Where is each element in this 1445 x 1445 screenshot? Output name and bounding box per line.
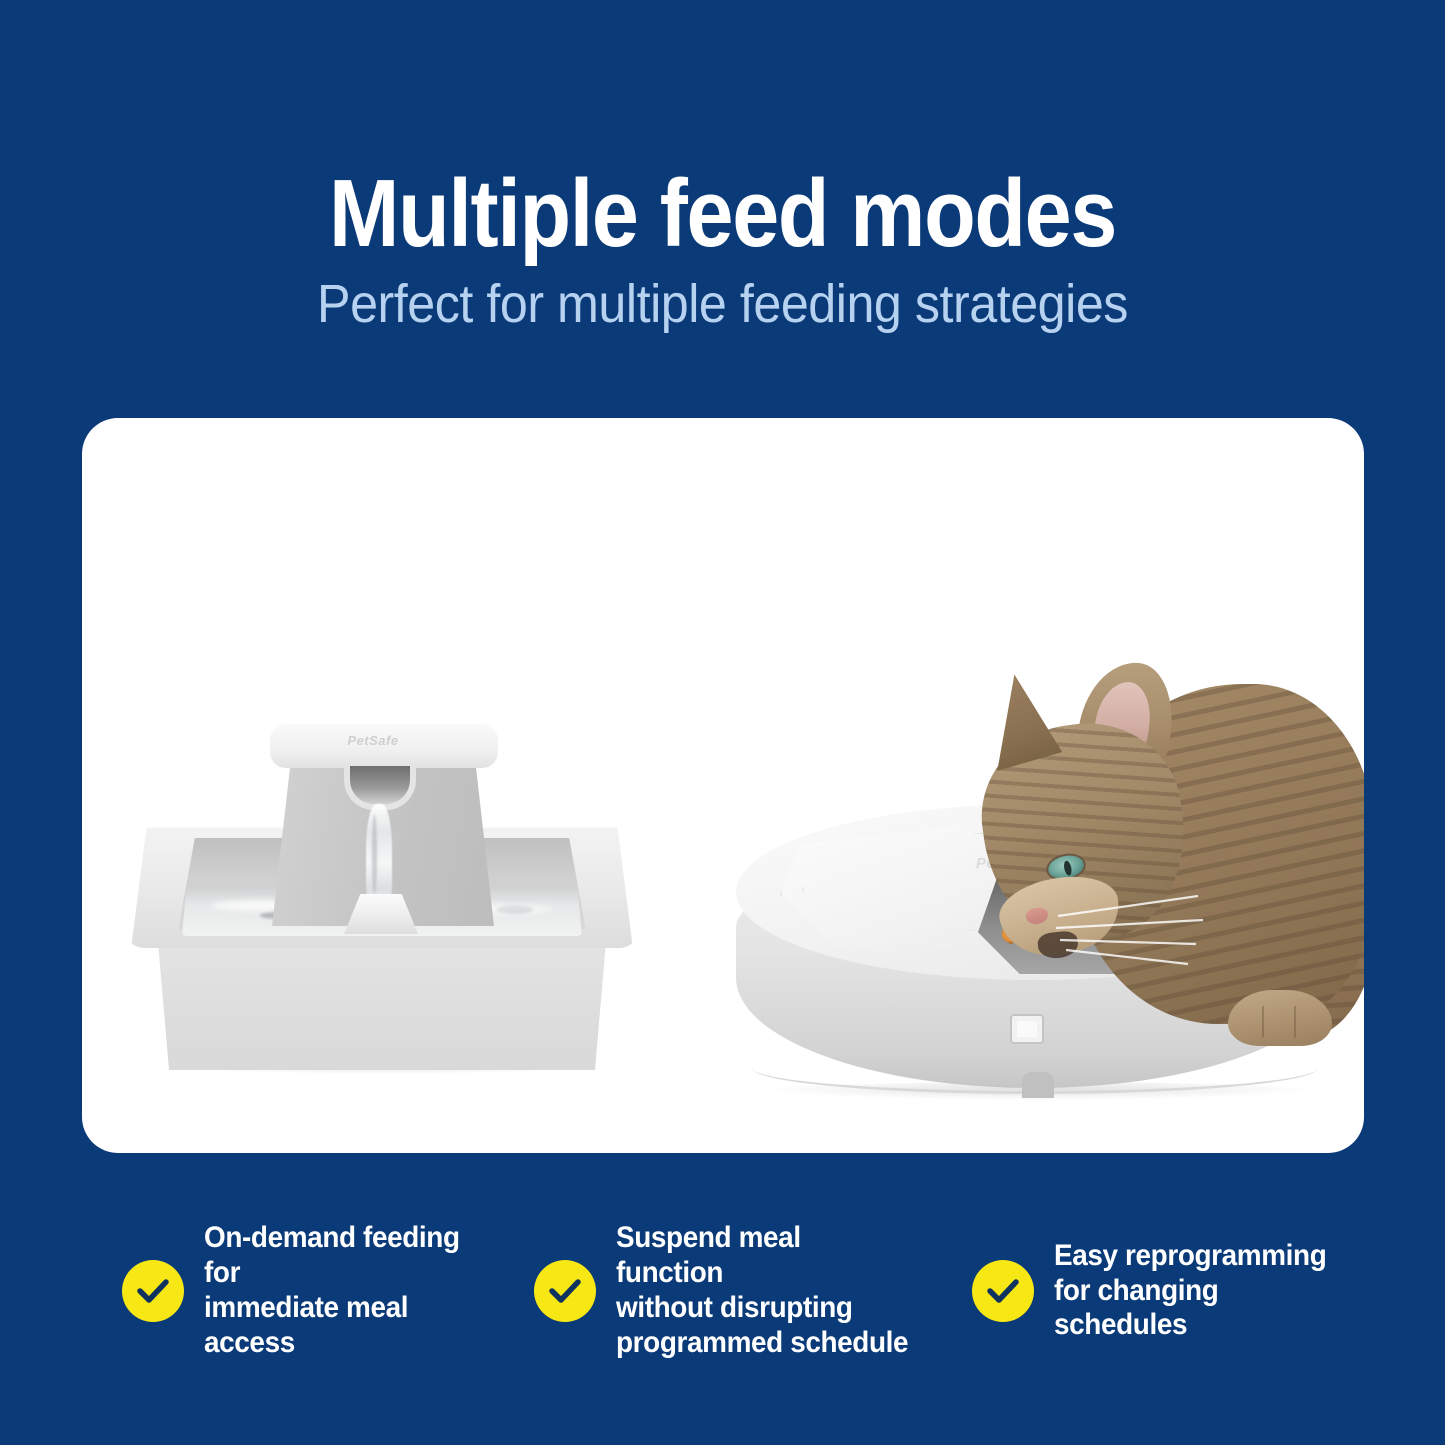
feature-bullet-2-line-1: Suspend meal function [616,1221,912,1291]
check-icon [972,1260,1034,1322]
feature-bullet-1: On-demand feeding for immediate meal acc… [122,1196,522,1386]
feature-bullet-2: Suspend meal function without disrupting… [534,1196,934,1386]
cat-mouth [1037,930,1079,960]
check-icon [122,1260,184,1322]
feature-bullet-2-line-3: programmed schedule [616,1326,912,1361]
feature-bullet-1-text: On-demand feeding for immediate meal acc… [204,1221,500,1360]
check-icon [534,1260,596,1322]
feature-bullet-1-line-1: On-demand feeding for [204,1221,500,1291]
cat-paw [1228,990,1332,1046]
feature-bullet-2-text: Suspend meal function without disrupting… [616,1221,912,1360]
tabby-cat-image [928,638,1364,1108]
page-subheadline: Perfect for multiple feeding strategies [51,277,1395,331]
feature-bullet-3: Easy reprogramming for changing schedule… [972,1196,1352,1386]
feature-bullet-2-line-2: without disrupting [616,1291,912,1326]
page-headline: Multiple feed modes [87,166,1359,262]
feature-bullet-3-line-2: for changing [1054,1274,1326,1309]
water-fountain-product-image: PetSafe [122,708,642,1108]
feature-bullets: On-demand feeding for immediate meal acc… [0,1196,1445,1386]
marketing-banner: Multiple feed modes Perfect for multiple… [0,0,1445,1445]
feature-bullet-3-text: Easy reprogramming for changing schedule… [1054,1239,1326,1343]
feature-bullet-1-line-2: immediate meal access [204,1291,500,1361]
feature-bullet-3-line-3: schedules [1054,1308,1326,1343]
product-photo-card: PetSafe PetSafe [82,418,1364,1153]
feature-bullet-3-line-1: Easy reprogramming [1054,1239,1326,1274]
fountain-brand-label: PetSafe [318,734,428,748]
